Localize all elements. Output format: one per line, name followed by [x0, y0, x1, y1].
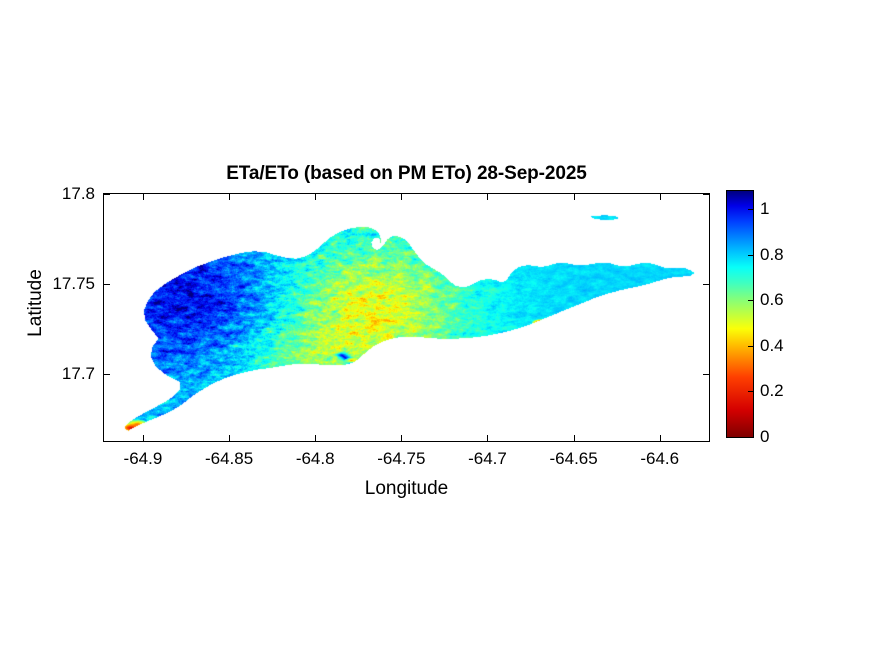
- plot-axes[interactable]: [103, 193, 710, 442]
- y-tick-label-1: 17.75: [52, 274, 95, 294]
- colorbar-tick-label-2: 0.4: [760, 336, 784, 356]
- colorbar-tick-label-4: 0.8: [760, 245, 784, 265]
- x-tick-1: [229, 194, 230, 200]
- x-tick-label-4: -64.7: [468, 449, 507, 469]
- y-tick-0: [703, 374, 709, 375]
- colorbar-tick-label-1: 0.2: [760, 381, 784, 401]
- y-tick-2: [104, 194, 110, 195]
- y-tick-label-0: 17.7: [62, 364, 95, 384]
- x-tick-label-6: -64.6: [640, 449, 679, 469]
- y-tick-1: [104, 284, 110, 285]
- x-tick-label-1: -64.85: [205, 449, 253, 469]
- x-tick-label-3: -64.75: [377, 449, 425, 469]
- x-tick-6: [660, 435, 661, 441]
- colorbar-tick-2: [748, 346, 753, 347]
- colorbar-gradient: [727, 191, 753, 437]
- colorbar-tick-3: [748, 300, 753, 301]
- x-tick-6: [660, 194, 661, 200]
- x-tick-2: [315, 194, 316, 200]
- y-tick-1: [703, 284, 709, 285]
- page-title: ETa/ETo (based on PM ETo) 28-Sep-2025: [103, 163, 710, 185]
- x-tick-label-2: -64.8: [296, 449, 335, 469]
- colorbar[interactable]: [726, 190, 754, 438]
- x-tick-4: [487, 194, 488, 200]
- y-tick-2: [703, 194, 709, 195]
- x-tick-4: [487, 435, 488, 441]
- colorbar-tick-label-3: 0.6: [760, 290, 784, 310]
- colorbar-tick-1: [748, 391, 753, 392]
- y-axis-label: Latitude: [25, 243, 47, 363]
- x-tick-5: [574, 194, 575, 200]
- x-tick-0: [143, 194, 144, 200]
- x-tick-3: [401, 435, 402, 441]
- x-tick-0: [143, 435, 144, 441]
- x-tick-label-5: -64.65: [549, 449, 597, 469]
- x-tick-1: [229, 435, 230, 441]
- colorbar-tick-0: [748, 437, 753, 438]
- x-tick-5: [574, 435, 575, 441]
- colorbar-tick-4: [748, 255, 753, 256]
- x-tick-label-0: -64.9: [124, 449, 163, 469]
- x-axis-label: Longitude: [103, 478, 710, 500]
- colorbar-tick-label-0: 0: [760, 427, 769, 447]
- colorbar-tick-5: [748, 209, 753, 210]
- figure-canvas: ETa/ETo (based on PM ETo) 28-Sep-2025 -6…: [0, 0, 875, 656]
- heatmap-raster: [104, 194, 709, 441]
- colorbar-tick-label-5: 1: [760, 199, 769, 219]
- x-tick-3: [401, 194, 402, 200]
- y-tick-label-2: 17.8: [62, 184, 95, 204]
- y-tick-0: [104, 374, 110, 375]
- x-tick-2: [315, 435, 316, 441]
